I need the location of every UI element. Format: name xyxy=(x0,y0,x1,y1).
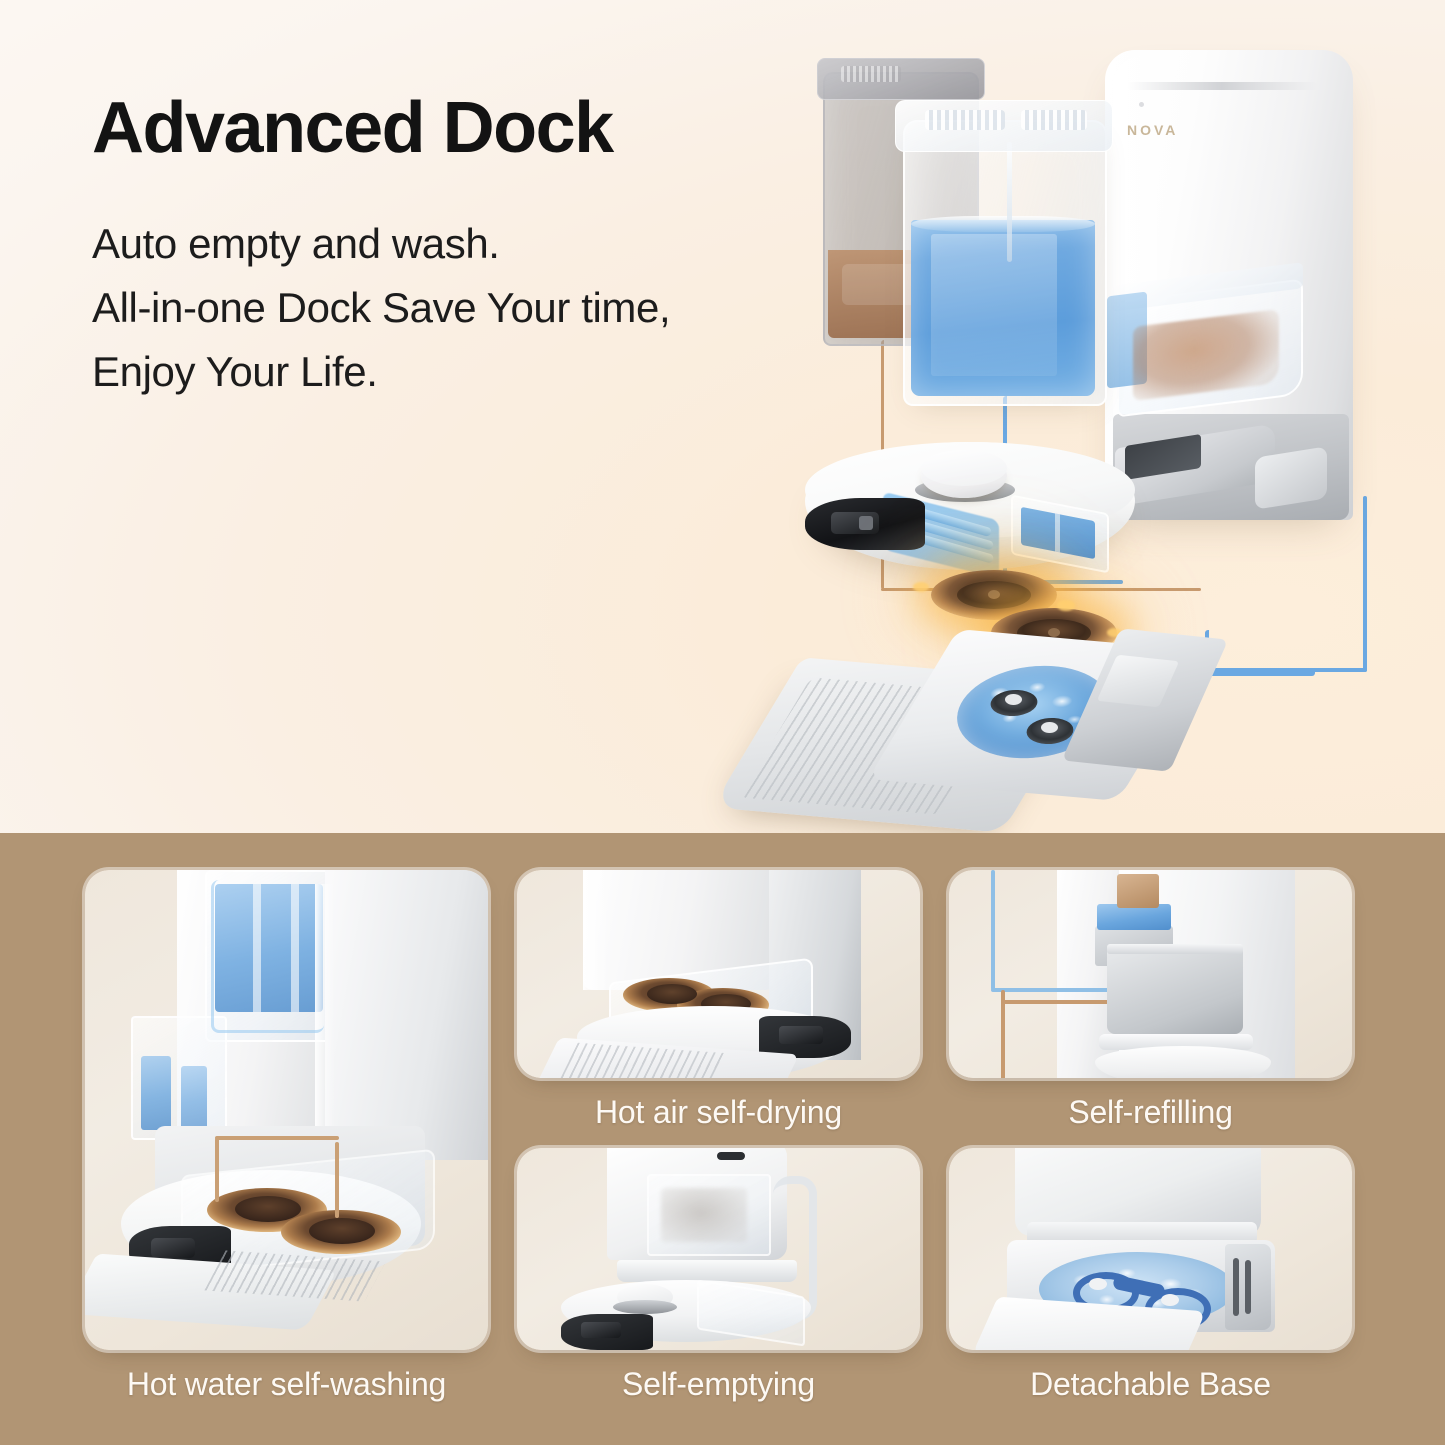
dock-return-tube-v xyxy=(1363,496,1367,672)
brand-logo: NOVA xyxy=(1127,122,1247,138)
feature-card-hot-water-self-washing-image xyxy=(85,870,488,1350)
heat-spark-2 xyxy=(1057,600,1075,611)
basin-spinner-left-cap xyxy=(1005,694,1022,705)
feature-card-self-refilling-image xyxy=(949,870,1352,1078)
clean-water-surface xyxy=(911,216,1095,232)
robot-camera-lens xyxy=(859,516,873,530)
clean-water-tank-vent-left xyxy=(925,110,1005,130)
heat-spark-1 xyxy=(913,582,929,592)
robot-lidar-cap xyxy=(921,450,1007,486)
mop-pad-right-hub xyxy=(1048,628,1060,637)
basin-spinner-right-cap xyxy=(1041,722,1058,733)
clean-water-highlight xyxy=(931,234,1057,376)
mop-pad-left-hub xyxy=(988,590,1000,599)
feature-caption-self-refilling: Self-refilling xyxy=(949,1094,1352,1131)
feature-card-hot-water-self-washing[interactable] xyxy=(85,870,488,1350)
product-infographic: Advanced Dock Auto empty and wash. All-i… xyxy=(0,0,1445,1445)
feature-caption-hot-water-self-washing: Hot water self-washing xyxy=(85,1366,488,1403)
feature-card-hot-air-self-drying[interactable] xyxy=(517,870,920,1078)
clean-water-tank-vent-right xyxy=(1021,110,1087,130)
clean-water-intake-straw xyxy=(1007,142,1012,262)
feature-caption-hot-air-self-drying: Hot air self-drying xyxy=(517,1094,920,1131)
feature-caption-detachable-base: Detachable Base xyxy=(949,1366,1352,1403)
feature-card-self-emptying[interactable] xyxy=(517,1148,920,1350)
feature-card-detachable-base-image xyxy=(949,1148,1352,1350)
dirty-water-tank-vent xyxy=(841,66,901,82)
product-exploded-view: NOVA xyxy=(735,22,1435,822)
dock-tower-slot xyxy=(1127,82,1317,90)
hero-section: Advanced Dock Auto empty and wash. All-i… xyxy=(0,0,1445,833)
feature-caption-self-emptying: Self-emptying xyxy=(517,1366,920,1403)
dock-indicator-dot xyxy=(1139,102,1144,107)
feature-card-self-emptying-image xyxy=(517,1148,920,1350)
feature-card-detachable-base[interactable] xyxy=(949,1148,1352,1350)
feature-card-self-refilling[interactable] xyxy=(949,870,1352,1078)
feature-card-hot-air-self-drying-image xyxy=(517,870,920,1078)
